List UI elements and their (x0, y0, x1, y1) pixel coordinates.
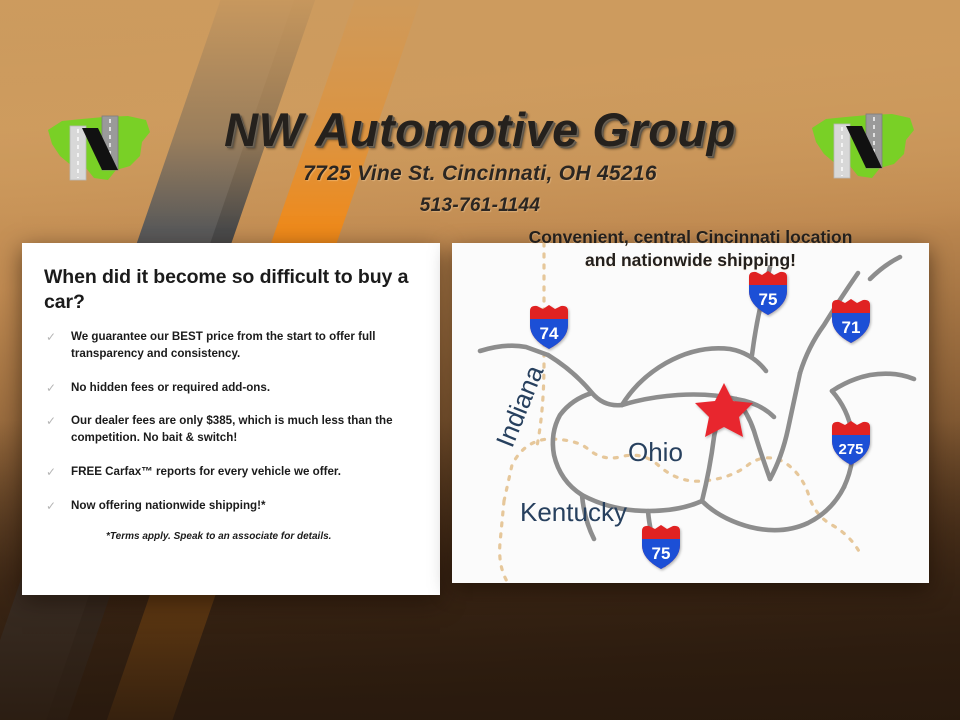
logo-road-left-post (70, 126, 86, 180)
shield-number: 74 (540, 324, 559, 343)
shield-number: 75 (759, 290, 778, 309)
regional-map: Indiana Ohio Kentucky 74 75 71 (452, 243, 929, 583)
check-icon: ✓ (46, 413, 56, 430)
check-icon: ✓ (46, 498, 56, 515)
list-item: ✓ We guarantee our BEST price from the s… (44, 329, 418, 363)
nw-logo-right (806, 106, 918, 184)
check-icon: ✓ (46, 329, 56, 346)
benefits-panel: When did it become so difficult to buy a… (22, 243, 440, 595)
benefits-list: ✓ We guarantee our BEST price from the s… (44, 329, 418, 515)
check-icon: ✓ (46, 380, 56, 397)
list-item: ✓ FREE Carfax™ reports for every vehicle… (44, 464, 418, 481)
brand-phone: 513-761-1144 (0, 195, 960, 217)
shield-number: 275 (838, 441, 863, 458)
nw-logo-left (42, 108, 154, 186)
shield-number: 71 (842, 318, 861, 337)
slide-canvas: NW Automotive Group 7725 Vine St. Cincin… (0, 0, 960, 720)
list-item-text: No hidden fees or required add-ons. (71, 381, 270, 394)
list-item-text: Our dealer fees are only $385, which is … (71, 414, 393, 444)
shield-number: 75 (652, 544, 671, 563)
check-icon: ✓ (46, 464, 56, 481)
list-item: ✓ Now offering nationwide shipping!* (44, 498, 418, 515)
state-label-kentucky: Kentucky (520, 497, 627, 527)
list-item: ✓ Our dealer fees are only $385, which i… (44, 413, 418, 447)
state-label-ohio: Ohio (628, 437, 683, 467)
list-item-text: FREE Carfax™ reports for every vehicle w… (71, 465, 341, 478)
logo-road-left-post (834, 124, 850, 178)
list-item: ✓ No hidden fees or required add-ons. (44, 380, 418, 397)
benefits-heading: When did it become so difficult to buy a… (44, 265, 418, 315)
list-item-text: Now offering nationwide shipping!* (71, 499, 266, 512)
list-item-text: We guarantee our BEST price from the sta… (71, 330, 375, 360)
terms-footnote: *Terms apply. Speak to an associate for … (44, 531, 418, 542)
map-panel: Indiana Ohio Kentucky 74 75 71 (452, 243, 929, 583)
